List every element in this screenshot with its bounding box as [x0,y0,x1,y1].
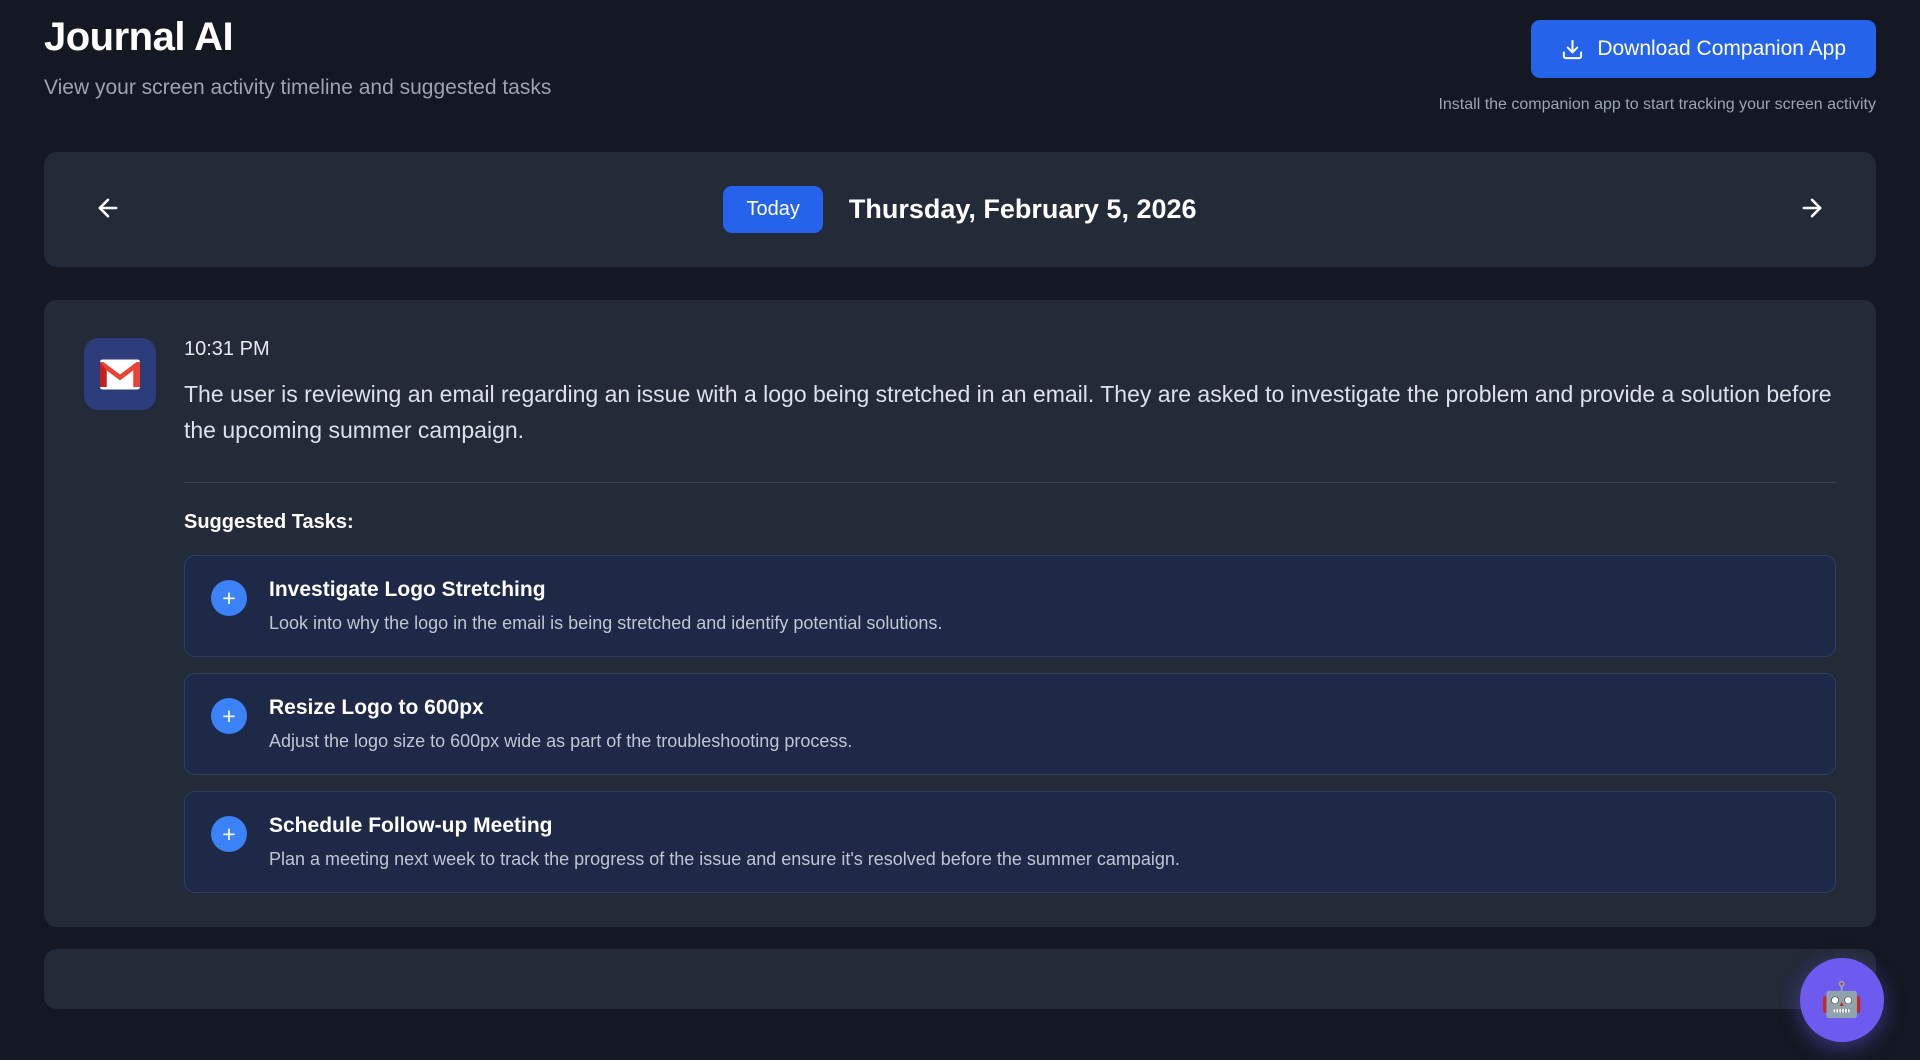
header-left: Journal AI View your screen activity tim… [44,14,551,100]
task-title: Investigate Logo Stretching [269,578,1809,602]
entry-description: The user is reviewing an email regarding… [184,377,1836,448]
companion-app-note: Install the companion app to start track… [1438,96,1876,114]
timeline-entry-body: 10:31 PM The user is reviewing an email … [184,338,1836,893]
current-date-label: Thursday, February 5, 2026 [849,194,1197,225]
task-title: Resize Logo to 600px [269,696,1809,720]
add-task-button[interactable]: + [211,698,247,734]
task-description: Look into why the logo in the email is b… [269,613,1809,634]
download-button-label: Download Companion App [1597,37,1846,61]
task-card[interactable]: + Resize Logo to 600px Adjust the logo s… [184,673,1836,775]
entry-divider [184,482,1836,483]
page-title: Journal AI [44,14,551,60]
add-task-button[interactable]: + [211,816,247,852]
assistant-fab-button[interactable]: 🤖 [1800,958,1884,1042]
page-subtitle: View your screen activity timeline and s… [44,76,551,100]
task-card[interactable]: + Schedule Follow-up Meeting Plan a meet… [184,791,1836,893]
task-description: Adjust the logo size to 600px wide as pa… [269,731,1809,752]
robot-icon: 🤖 [1821,983,1863,1017]
arrow-left-icon [94,194,122,225]
page-header: Journal AI View your screen activity tim… [44,0,1876,114]
previous-day-button[interactable] [84,186,132,234]
timeline-entry-next[interactable] [44,949,1876,1009]
header-right: Download Companion App Install the compa… [1438,14,1876,114]
task-description: Plan a meeting next week to track the pr… [269,849,1809,870]
date-navigation-bar: Today Thursday, February 5, 2026 [44,152,1876,267]
today-button[interactable]: Today [723,186,822,233]
gmail-icon [84,338,156,410]
timeline-entry: 10:31 PM The user is reviewing an email … [44,300,1876,927]
task-card[interactable]: + Investigate Logo Stretching Look into … [184,555,1836,657]
task-text: Resize Logo to 600px Adjust the logo siz… [269,696,1809,752]
task-title: Schedule Follow-up Meeting [269,814,1809,838]
date-center-group: Today Thursday, February 5, 2026 [723,186,1196,233]
suggested-tasks-heading: Suggested Tasks: [184,511,1836,534]
app-root: Journal AI View your screen activity tim… [0,0,1920,1060]
add-task-button[interactable]: + [211,580,247,616]
arrow-right-icon [1798,194,1826,225]
task-text: Investigate Logo Stretching Look into wh… [269,578,1809,634]
download-icon [1561,38,1584,61]
download-companion-app-button[interactable]: Download Companion App [1531,20,1876,78]
entry-timestamp: 10:31 PM [184,338,1836,361]
task-text: Schedule Follow-up Meeting Plan a meetin… [269,814,1809,870]
next-day-button[interactable] [1788,186,1836,234]
